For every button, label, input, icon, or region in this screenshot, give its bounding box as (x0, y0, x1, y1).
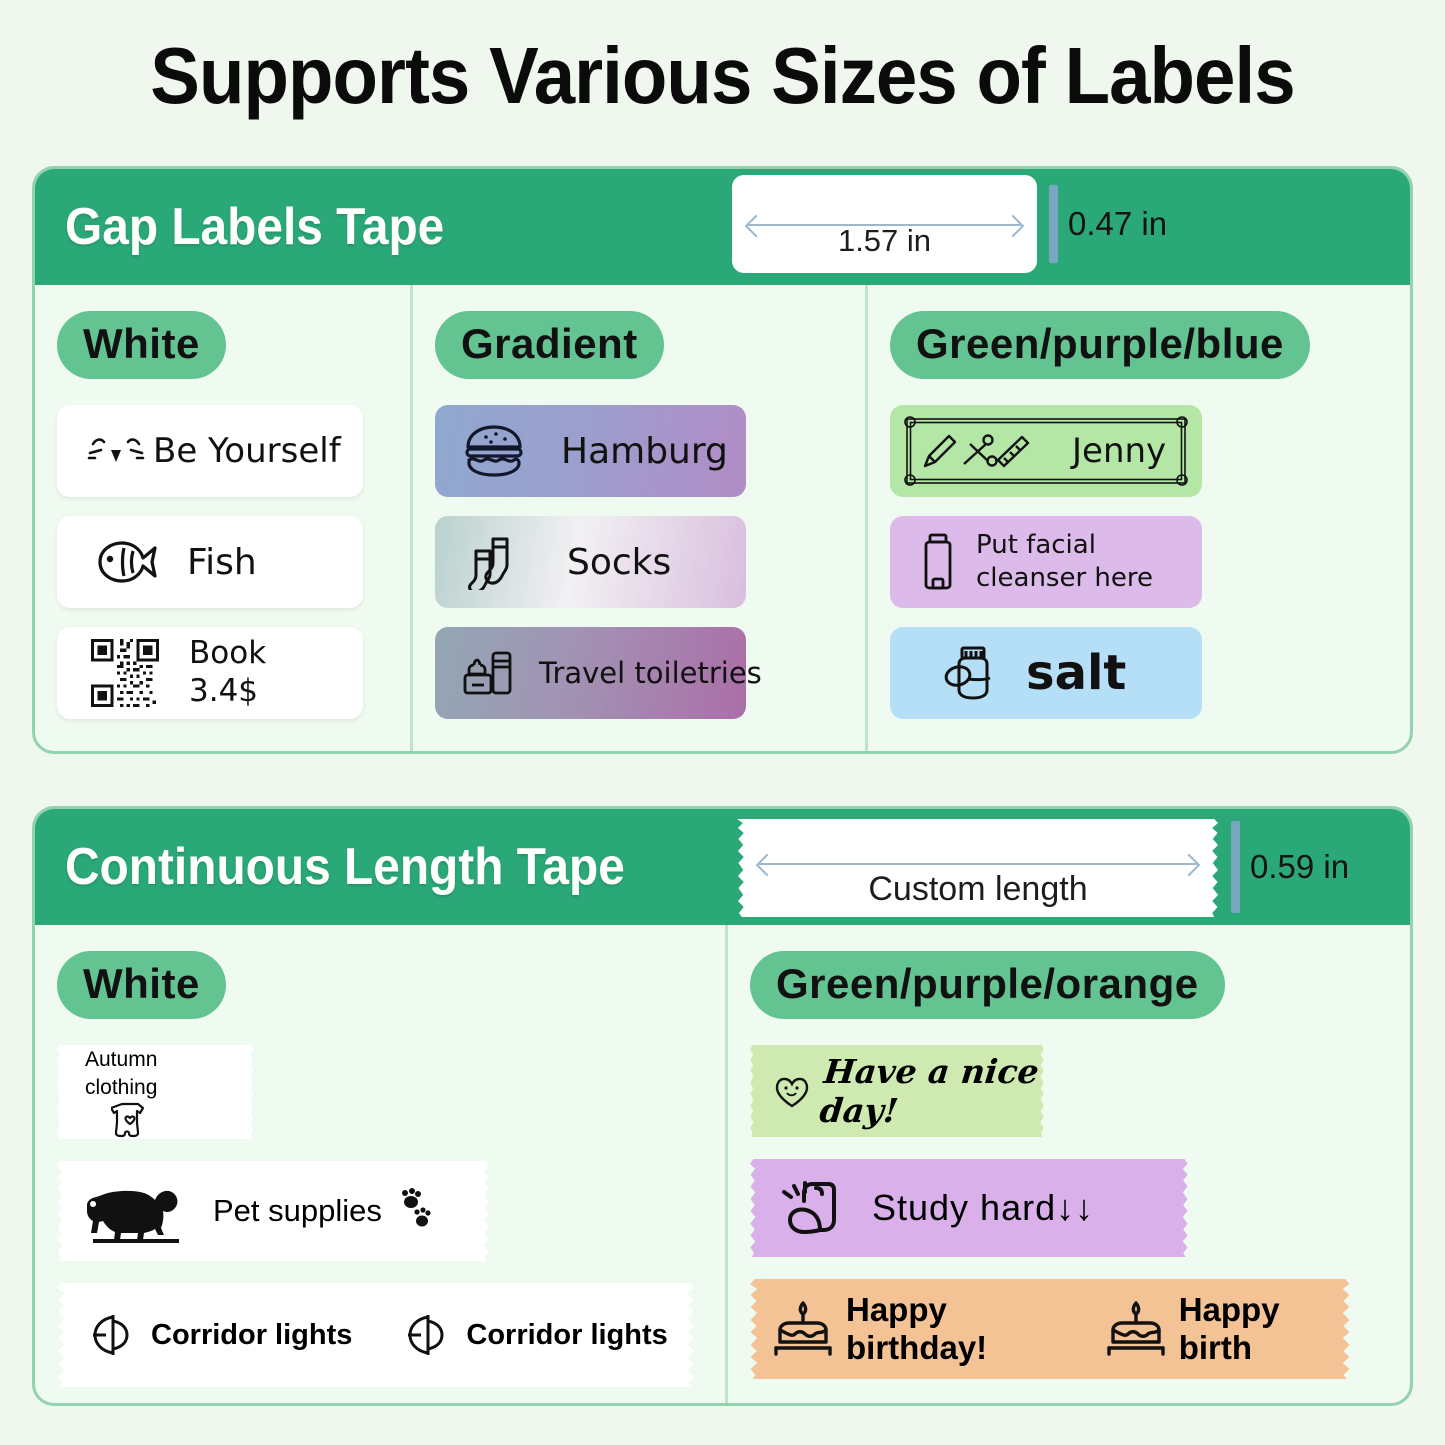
label-fish[interactable]: Fish (57, 516, 363, 608)
gap-gpb-label-list: Jenny (890, 405, 1388, 719)
continuous-measurement: Custom length 0.59 in (737, 817, 1349, 917)
label-travel-toiletries[interactable]: Travel toiletries (435, 627, 746, 719)
label-hamburg[interactable]: Hamburg (435, 405, 746, 497)
label-have-a-nice-day[interactable]: Have a nice day! (750, 1045, 1044, 1137)
label-study-hard-text: Study hard↓↓ (872, 1187, 1094, 1229)
continuous-column-green-purple-orange: Green/purple/orange Have a nice day! (725, 925, 1410, 1403)
label-facial-cleanser-line1: Put facial (976, 529, 1153, 562)
label-jenny-text: Jenny (1072, 431, 1166, 471)
pencil-scissors-ruler-icon (920, 430, 1038, 472)
continuous-card-header: Continuous Length Tape Custom length 0.5… (35, 809, 1410, 925)
gap-column-green-purple-blue: Green/purple/blue (865, 285, 1410, 751)
label-happy-birthday-text-2: Happy birth (1179, 1291, 1350, 1367)
label-sizes-infographic: Supports Various Sizes of Labels Gap Lab… (0, 0, 1445, 1445)
label-corridor-lights-text-1: Corridor lights (151, 1319, 352, 1352)
continuous-width-tape: Custom length (737, 817, 1219, 917)
wall-lamp-icon (406, 1309, 454, 1361)
gap-white-label-list: Be Yourself (57, 405, 388, 719)
smiley-heart-icon (772, 1073, 812, 1109)
qr-code-icon (91, 639, 159, 707)
baby-onesie-icon (111, 1100, 149, 1138)
dog-icon (83, 1175, 185, 1247)
continuous-column-white: White Autumn clothing (35, 925, 725, 1403)
label-corridor-lights-text-2: Corridor lights (466, 1319, 667, 1352)
continuous-pill-white: White (57, 951, 226, 1019)
label-socks-text: Socks (567, 542, 671, 583)
salt-jar-icon (940, 644, 1002, 702)
label-study-hard[interactable]: Study hard↓↓ (750, 1159, 1188, 1257)
label-have-a-nice-day-text: Have a nice day! (818, 1052, 1048, 1130)
toiletries-icon (461, 645, 523, 701)
label-happy-birthday-text-1: Happy birthday! (846, 1291, 1081, 1367)
label-fish-text: Fish (187, 542, 257, 583)
continuous-height-bar-icon (1231, 821, 1240, 913)
gap-measurement: 1.57 in 0.47 in (732, 175, 1167, 273)
facial-cleanser-tube-icon (918, 533, 958, 591)
gap-column-white: White (35, 285, 410, 751)
continuous-card-title: Continuous Length Tape (65, 837, 625, 897)
continuous-card-body: White Autumn clothing (35, 925, 1410, 1403)
wall-lamp-icon (91, 1309, 139, 1361)
gap-column-gradient: Gradient (410, 285, 865, 751)
label-book[interactable]: Book 3.4$ (57, 627, 363, 719)
hamburger-icon (463, 423, 525, 479)
page-title: Supports Various Sizes of Labels (51, 30, 1395, 122)
double-arrow-icon (748, 224, 1021, 226)
continuous-length-tape-card: Continuous Length Tape Custom length 0.5… (32, 806, 1413, 1406)
socks-icon (467, 534, 527, 590)
gap-width-label: 1.57 in (838, 223, 931, 259)
label-pet-supplies-text: Pet supplies (213, 1193, 382, 1229)
cat-face-emoticon-icon (87, 433, 145, 469)
gap-labels-tape-card: Gap Labels Tape 1.57 in 0.47 in White (32, 166, 1413, 754)
label-book-line1: Book (189, 635, 266, 673)
label-corridor-lights[interactable]: Corridor lights Corrid (57, 1283, 695, 1387)
gap-gradient-label-list: Hamburg (435, 405, 843, 719)
gap-card-title: Gap Labels Tape (65, 197, 444, 257)
label-book-line2: 3.4$ (189, 673, 266, 711)
label-hamburg-text: Hamburg (561, 431, 728, 472)
label-facial-cleanser[interactable]: Put facial cleanser here (890, 516, 1202, 608)
continuous-pill-green-purple-orange: Green/purple/orange (750, 951, 1225, 1019)
continuous-gpo-label-list: Have a nice day! (750, 1045, 1388, 1379)
gap-card-body: White (35, 285, 1410, 751)
label-facial-cleanser-text: Put facial cleanser here (976, 529, 1153, 596)
label-book-text: Book 3.4$ (189, 635, 266, 711)
label-autumn-clothing-line2: clothing (85, 1074, 157, 1102)
label-salt-text: salt (1026, 645, 1126, 701)
label-travel-toiletries-text: Travel toiletries (539, 656, 762, 690)
flexed-bicep-icon (780, 1174, 846, 1242)
label-be-yourself-text: Be Yourself (153, 431, 341, 471)
label-facial-cleanser-line2: cleanser here (976, 562, 1153, 595)
label-socks[interactable]: Socks (435, 516, 746, 608)
label-autumn-clothing-line1: Autumn (85, 1046, 157, 1074)
fish-icon (95, 538, 159, 586)
birthday-cake-icon (1105, 1298, 1167, 1360)
label-salt[interactable]: salt (890, 627, 1202, 719)
gap-height-bar-icon (1049, 185, 1058, 263)
label-jenny[interactable]: Jenny (890, 405, 1202, 497)
label-happy-birthday[interactable]: Happy birthday! (750, 1279, 1350, 1379)
label-autumn-clothing-text: Autumn clothing (85, 1046, 157, 1103)
label-be-yourself[interactable]: Be Yourself (57, 405, 363, 497)
gap-pill-gradient: Gradient (435, 311, 664, 379)
label-pet-supplies[interactable]: Pet supplies (57, 1161, 489, 1261)
gap-pill-green-purple-blue: Green/purple/blue (890, 311, 1310, 379)
gap-width-chip: 1.57 in (732, 175, 1037, 273)
paw-prints-icon (392, 1188, 436, 1234)
continuous-height-label: 0.59 in (1250, 848, 1349, 886)
gap-height-label: 0.47 in (1068, 205, 1167, 243)
birthday-cake-icon (772, 1298, 834, 1360)
continuous-width-label: Custom length (868, 870, 1087, 909)
label-autumn-clothing[interactable]: Autumn clothing (57, 1045, 253, 1139)
continuous-white-label-list: Autumn clothing (57, 1045, 703, 1387)
gap-pill-white: White (57, 311, 226, 379)
double-arrow-icon (759, 863, 1197, 865)
gap-card-header: Gap Labels Tape 1.57 in 0.47 in (35, 169, 1410, 285)
